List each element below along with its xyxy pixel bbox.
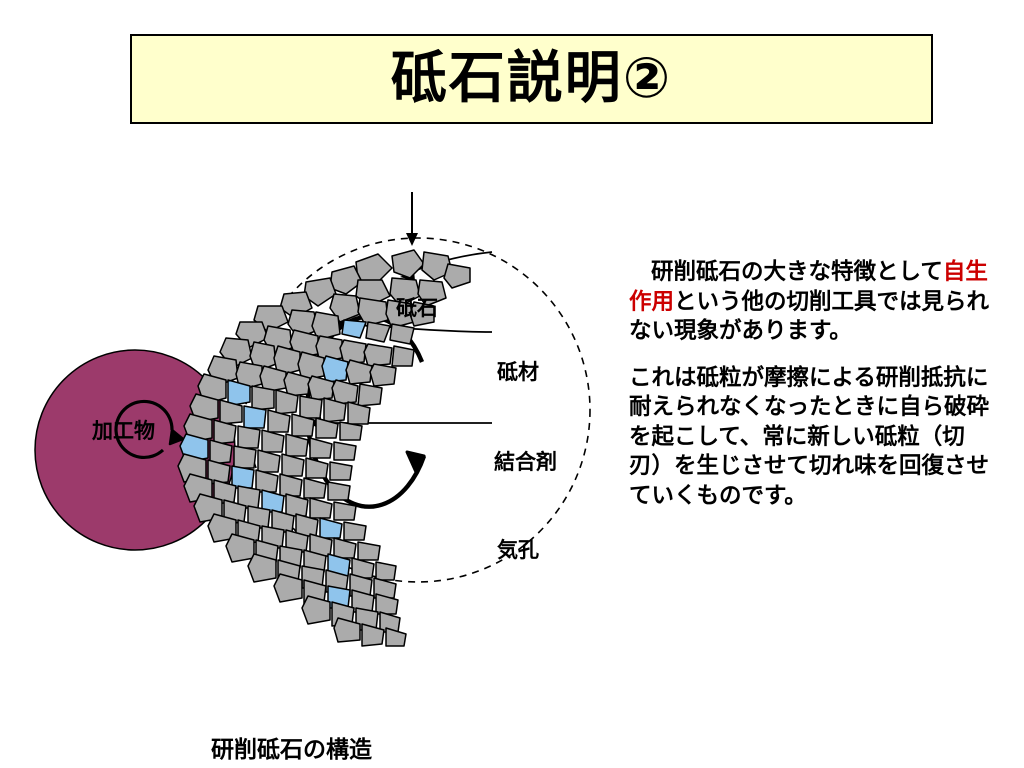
- paragraph-1-after: という他の切削工具では見られない現象があります。: [629, 289, 989, 345]
- diagram-label-pore: 気孔: [497, 540, 539, 561]
- page-title: 砥石説明②: [391, 51, 672, 107]
- diagram-svg: [0, 130, 620, 670]
- diagram-label-workpiece: 加工物: [92, 421, 155, 442]
- paragraph-2: これは砥粒が摩擦による研削抵抗に耐えられなくなったときに自ら破砕を起こして、常に…: [629, 364, 997, 512]
- slide-title-box: 砥石説明②: [130, 34, 933, 124]
- diagram-label-bond: 結合剤: [494, 452, 557, 473]
- diagram-label-abrasive: 砥材: [497, 362, 539, 383]
- diagram-caption: 研削砥石の構造: [211, 739, 372, 762]
- grinding-wheel-diagram: 砥石 砥材 結合剤 気孔 加工物 研削砥石の構造: [0, 130, 620, 670]
- paragraph-1-before: 研削砥石の大きな特徴として: [651, 259, 943, 285]
- paragraph-1: 研削砥石の大きな特徴として自生作用という他の切削工具では見られない現象があります…: [629, 258, 997, 347]
- body-text-column: 研削砥石の大きな特徴として自生作用という他の切削工具では見られない現象があります…: [629, 258, 997, 511]
- diagram-label-grindstone: 砥石: [396, 298, 438, 319]
